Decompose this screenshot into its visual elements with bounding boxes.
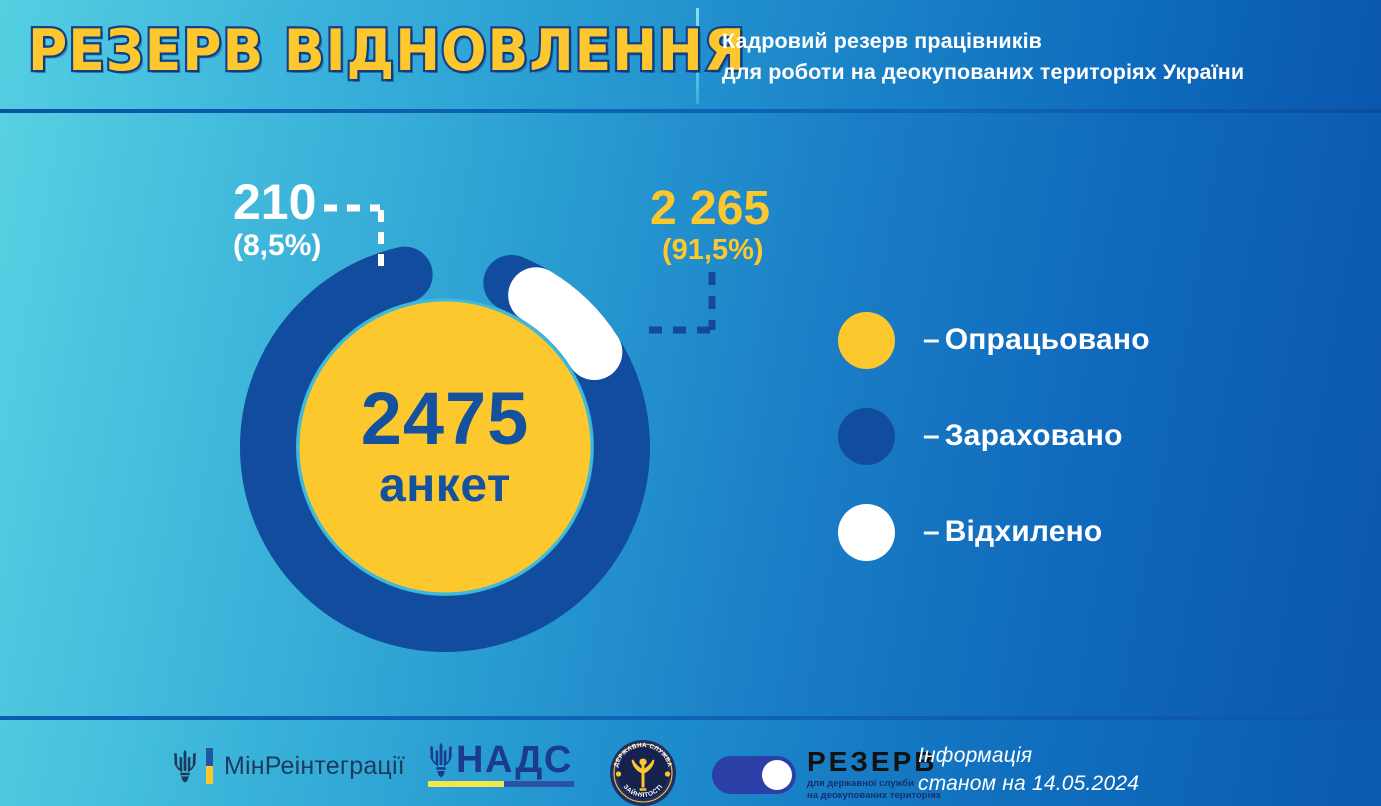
legend-dash-1: – [923, 421, 940, 451]
subtitle-line-2: для роботи на деокупованих територіях Ук… [722, 57, 1372, 88]
legend-label-rejected: Відхилено [945, 517, 1103, 547]
donut-inner-disc [298, 300, 592, 594]
header-bar: РЕЗЕРВ ВІДНОВЛЕННЯ Кадровий резерв праці… [0, 0, 1381, 112]
chart-legend: – Опрацьовано – Зараховано – Відхилено [838, 292, 1278, 580]
callout-enrolled-percent: (91,5%) [650, 235, 770, 267]
callout-enrolled: 2 265 (91,5%) [650, 186, 770, 267]
logo-nads[interactable]: НАДС [428, 742, 574, 787]
footer-date-line-2: станом на 14.05.2024 [918, 770, 1139, 798]
footer-date-line-1: Інформація [918, 742, 1139, 770]
logo-nads-label: НАДС [456, 743, 573, 778]
legend-dash-2: – [923, 517, 940, 547]
header-rule [0, 109, 1381, 113]
legend-item-rejected[interactable]: – Відхилено [838, 484, 1278, 580]
logo-state-employment-service[interactable]: ДЕРЖАВНА СЛУЖБА ЗАЙНЯТОСТІ [600, 738, 686, 806]
callout-rejected: 210 (8,5%) [233, 178, 321, 262]
toggle-knob [762, 760, 792, 790]
leader-line-rejected [322, 196, 402, 272]
leader-line-enrolled [640, 268, 750, 348]
tryzub-icon [172, 749, 198, 783]
legend-label-processed: Опрацьовано [945, 325, 1150, 355]
toggle-icon [712, 756, 796, 794]
legend-item-processed[interactable]: – Опрацьовано [838, 292, 1278, 388]
infographic-page: РЕЗЕРВ ВІДНОВЛЕННЯ Кадровий резерв праці… [0, 0, 1381, 806]
callout-enrolled-value: 2 265 [650, 186, 770, 232]
legend-label-enrolled: Зараховано [945, 421, 1123, 451]
donut-chart-svg [220, 222, 670, 672]
legend-swatch-blue [838, 408, 895, 465]
page-title: РЕЗЕРВ ВІДНОВЛЕННЯ [28, 18, 746, 84]
flag-bar [206, 748, 213, 784]
tryzub-icon [428, 742, 454, 778]
legend-dash-0: – [923, 325, 940, 355]
donut-chart: 2475 анкет [220, 222, 670, 672]
legend-item-enrolled[interactable]: – Зараховано [838, 388, 1278, 484]
logo-minreintegration[interactable]: МінРеінтеграції [172, 748, 405, 784]
logo-rezerv[interactable]: РЕЗЕРВ для державної служби на деокупова… [712, 748, 941, 802]
callout-rejected-percent: (8,5%) [233, 229, 321, 262]
footer-date: Інформація станом на 14.05.2024 [918, 742, 1139, 799]
logo-minreintegration-label: МінРеінтеграції [224, 752, 405, 781]
callout-rejected-value: 210 [233, 178, 321, 226]
subtitle-line-1: Кадровий резерв працівників [722, 26, 1372, 57]
legend-swatch-white [838, 504, 895, 561]
nads-underline [428, 781, 574, 787]
legend-swatch-yellow [838, 312, 895, 369]
page-subtitle: Кадровий резерв працівників для роботи н… [722, 26, 1372, 87]
